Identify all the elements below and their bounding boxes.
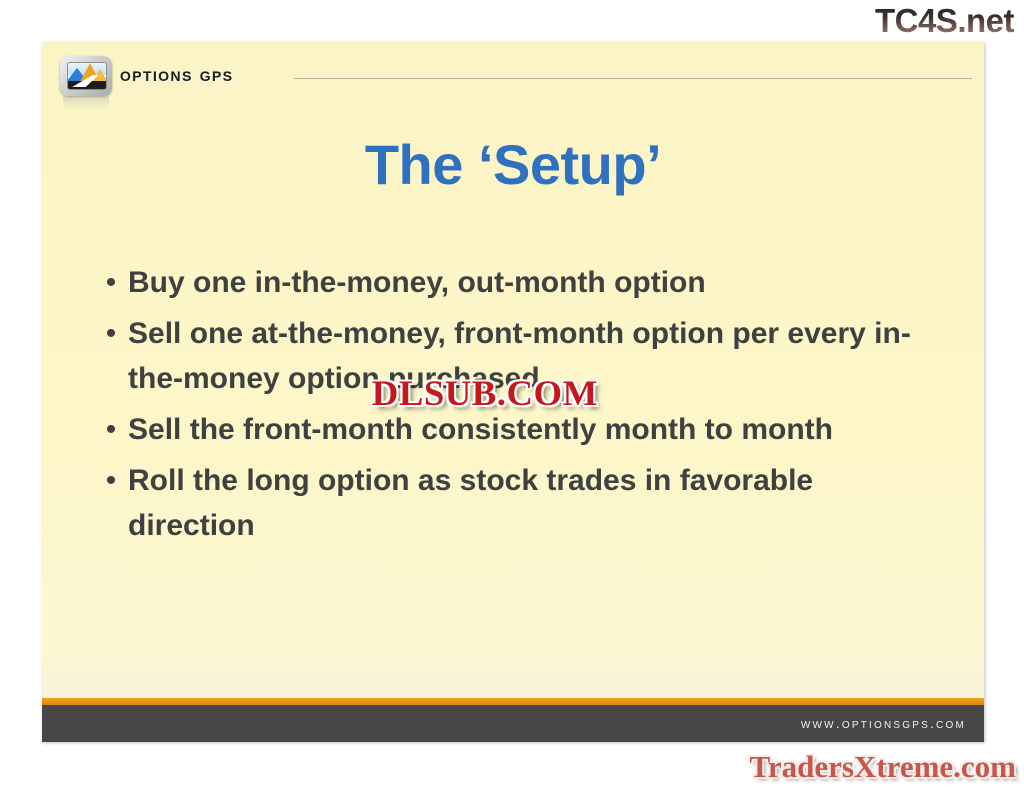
- brand-name: Options GPS: [120, 64, 234, 87]
- tc4s-watermark: TC4S.net: [875, 2, 1014, 40]
- list-item: • Buy one in-the-money, out-month option: [94, 260, 934, 305]
- slide-header: Options GPS: [42, 42, 984, 104]
- gps-device-icon: [60, 56, 112, 96]
- slide-title: The ‘Setup’: [42, 132, 984, 197]
- bullet-marker-icon: •: [94, 458, 128, 503]
- footer-website-url: www.OptionsGPS.com: [801, 715, 966, 731]
- tradersxtreme-watermark: TradersXtreme.com: [749, 749, 1016, 785]
- list-item-text: Roll the long option as stock trades in …: [128, 458, 934, 548]
- bullet-marker-icon: •: [94, 311, 128, 356]
- list-item: • Roll the long option as stock trades i…: [94, 458, 934, 548]
- list-item-text: Buy one in-the-money, out-month option: [128, 260, 934, 305]
- dlsub-watermark: DLSUB.COM: [372, 372, 598, 414]
- footer-accent-bar: [42, 698, 984, 705]
- logo-reflection: [63, 96, 109, 110]
- header-divider: [294, 78, 972, 79]
- gps-device-screen: [67, 62, 107, 90]
- bullet-marker-icon: •: [94, 407, 128, 452]
- slide-footer: www.OptionsGPS.com: [42, 698, 984, 742]
- presentation-slide: Options GPS The ‘Setup’ • Buy one in-the…: [42, 42, 984, 742]
- bullet-marker-icon: •: [94, 260, 128, 305]
